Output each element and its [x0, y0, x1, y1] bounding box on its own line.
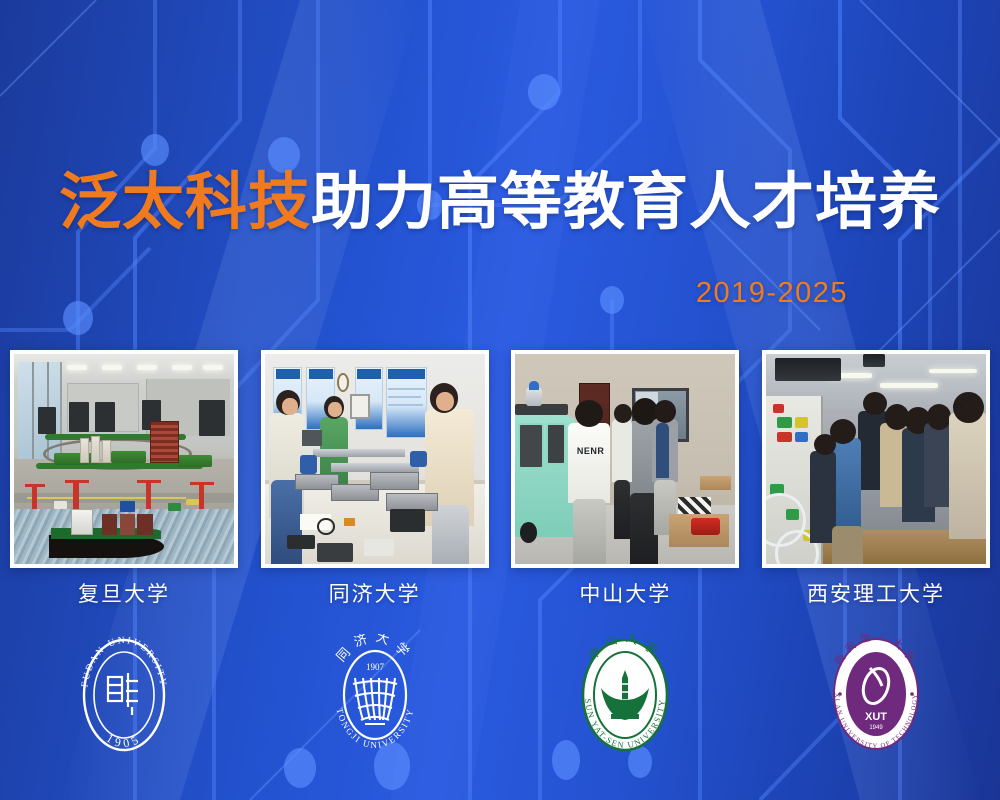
glasses-icon: [953, 404, 963, 408]
title-accent-brand: 泛太科技: [59, 168, 311, 237]
svg-text:1907: 1907: [366, 662, 385, 672]
caption-fudan: 复旦大学: [10, 578, 238, 618]
caption-tongji: 同济大学: [261, 578, 489, 618]
logo-cell-xut: 西安理工大学 XI AN UNIVERSITY OF TECHNOLOGY XU…: [762, 626, 990, 766]
caption-xut: 西安理工大学: [762, 578, 990, 618]
shirt-label-nenr: NENR: [577, 446, 605, 456]
showcase-photo-row: NENR: [10, 350, 990, 568]
subtitle-date-range: 2019-2025: [696, 277, 848, 310]
showcase-card-fudan[interactable]: [10, 350, 238, 568]
page-title: 泛太科技助力高等教育人才培养: [0, 168, 1000, 237]
svg-text:同济大学: 同济大学: [334, 634, 417, 665]
logo-cell-fudan: FUDAN UNIVERSITY 1905: [10, 626, 238, 766]
tongji-university-logo: 同济大学 TONGJI UNIVERSITY 1907: [325, 634, 425, 758]
svg-text:XUT: XUT: [865, 711, 887, 723]
showcase-card-sysu[interactable]: NENR: [511, 350, 739, 568]
logo-cell-sysu: 中山大学 SUN YAT-SEN UNIVERSITY: [511, 626, 739, 766]
svg-text:1949: 1949: [869, 725, 883, 731]
showcase-card-tongji[interactable]: [261, 350, 489, 568]
photo-lab-bench-students: [265, 354, 485, 564]
photo-industrial-equipment-visit: [766, 354, 986, 564]
showcase-card-xut[interactable]: [762, 350, 990, 568]
photo-autonomous-vehicle: NENR: [515, 354, 735, 564]
university-caption-row: 复旦大学 同济大学 中山大学 西安理工大学: [10, 578, 990, 618]
subtitle-wrapper: 2019-2025: [0, 277, 1000, 310]
slide-canvas: 泛太科技助力高等教育人才培养 2019-2025: [0, 0, 1000, 800]
sun-yat-sen-university-logo: 中山大学 SUN YAT-SEN UNIVERSITY: [575, 634, 675, 758]
fudan-university-logo: FUDAN UNIVERSITY 1905: [76, 635, 172, 757]
caption-sysu: 中山大学: [511, 578, 739, 618]
svg-text:FUDAN UNIVERSITY: FUDAN UNIVERSITY: [80, 636, 167, 688]
photo-smart-city-model: [14, 354, 234, 564]
title-plain-text: 助力高等教育人才培养: [311, 168, 941, 237]
university-logo-row: FUDAN UNIVERSITY 1905: [10, 626, 990, 766]
xian-university-of-technology-logo: 西安理工大学 XI AN UNIVERSITY OF TECHNOLOGY XU…: [826, 634, 926, 758]
logo-cell-tongji: 同济大学 TONGJI UNIVERSITY 1907: [261, 626, 489, 766]
